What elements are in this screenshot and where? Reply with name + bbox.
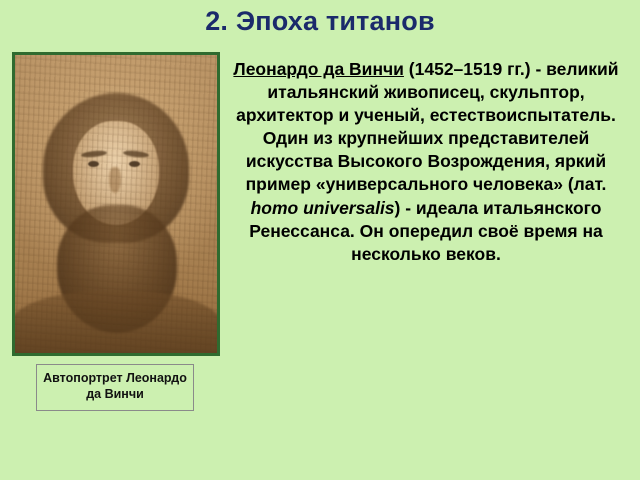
portrait-brow-left <box>81 150 107 159</box>
portrait-eye-left <box>88 161 99 167</box>
portrait-brow-right <box>123 150 149 159</box>
portrait-canvas <box>15 55 217 353</box>
portrait-nose <box>109 167 121 193</box>
portrait-image <box>12 52 220 356</box>
body-text-part-1: (1452–1519 гг.) - великий итальянский жи… <box>236 59 618 194</box>
portrait-caption: Автопортрет Леонардо да Винчи <box>36 364 194 411</box>
body-lead: Леонардо да Винчи <box>233 59 404 79</box>
page-title: 2. Эпоха титанов <box>0 6 640 37</box>
slide: 2. Эпоха титанов Автопортрет Леонардо да… <box>0 0 640 480</box>
portrait-eye-right <box>129 161 140 167</box>
portrait-face <box>73 121 159 225</box>
portrait-hair <box>43 93 189 243</box>
portrait-shoulders <box>12 291 220 356</box>
portrait-beard <box>57 205 177 333</box>
body-latin-term: homo universalis <box>251 198 395 218</box>
body-text: Леонардо да Винчи (1452–1519 гг.) - вели… <box>228 58 624 266</box>
